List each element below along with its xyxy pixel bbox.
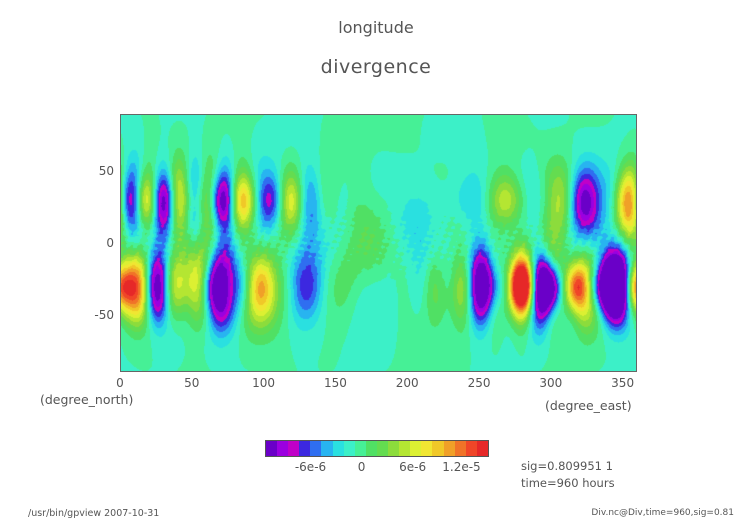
y-axis-ticks: 500-50 xyxy=(72,114,114,372)
colorbar-swatch xyxy=(377,441,388,456)
colorbar-swatch xyxy=(344,441,355,456)
x-tick: 50 xyxy=(184,376,199,390)
x-tick: 0 xyxy=(116,376,124,390)
plot-area xyxy=(120,114,637,372)
y-tick: 50 xyxy=(80,164,114,178)
colorbar-swatch xyxy=(444,441,455,456)
x-tick: 300 xyxy=(539,376,562,390)
y-tick: -50 xyxy=(80,308,114,322)
heatmap-canvas xyxy=(121,115,637,372)
colorbar-swatch xyxy=(333,441,344,456)
chart-title: divergence xyxy=(0,56,752,78)
footer-command: /usr/bin/gpview 2007-10-31 xyxy=(28,508,159,519)
colorbar-swatch xyxy=(321,441,332,456)
colorbar-swatch xyxy=(366,441,377,456)
x-axis-label: longitude xyxy=(0,18,752,37)
colorbar-swatch xyxy=(299,441,310,456)
colorbar-swatch xyxy=(432,441,443,456)
x-axis-units: (degree_east) xyxy=(545,398,632,413)
colorbar-swatch xyxy=(388,441,399,456)
colorbar-swatch xyxy=(355,441,366,456)
chart-page: divergence 500-50 latitude longitude (de… xyxy=(0,0,752,532)
colorbar-tick: 0 xyxy=(358,460,366,474)
time-annotation: time=960 hours xyxy=(521,476,615,490)
colorbar xyxy=(265,440,489,457)
colorbar-tick: -6e-6 xyxy=(295,460,326,474)
colorbar-swatch xyxy=(310,441,321,456)
colorbar-swatch xyxy=(266,441,277,456)
x-tick: 150 xyxy=(324,376,347,390)
colorbar-swatch xyxy=(410,441,421,456)
x-tick: 250 xyxy=(468,376,491,390)
colorbar-swatch xyxy=(477,441,488,456)
x-tick: 350 xyxy=(611,376,634,390)
colorbar-swatch xyxy=(288,441,299,456)
colorbar-tick: 1.2e-5 xyxy=(442,460,480,474)
colorbar-swatch xyxy=(455,441,466,456)
colorbar-tick: 6e-6 xyxy=(399,460,426,474)
colorbar-swatch xyxy=(399,441,410,456)
footer-source: Div.nc@Div,time=960,sig=0.81 xyxy=(591,508,734,518)
y-axis-units: (degree_north) xyxy=(40,392,133,407)
colorbar-swatch xyxy=(466,441,477,456)
sig-annotation: sig=0.809951 1 xyxy=(521,459,613,473)
x-tick: 200 xyxy=(396,376,419,390)
y-tick: 0 xyxy=(80,236,114,250)
colorbar-swatch xyxy=(421,441,432,456)
x-tick: 100 xyxy=(252,376,275,390)
colorbar-swatch xyxy=(277,441,288,456)
